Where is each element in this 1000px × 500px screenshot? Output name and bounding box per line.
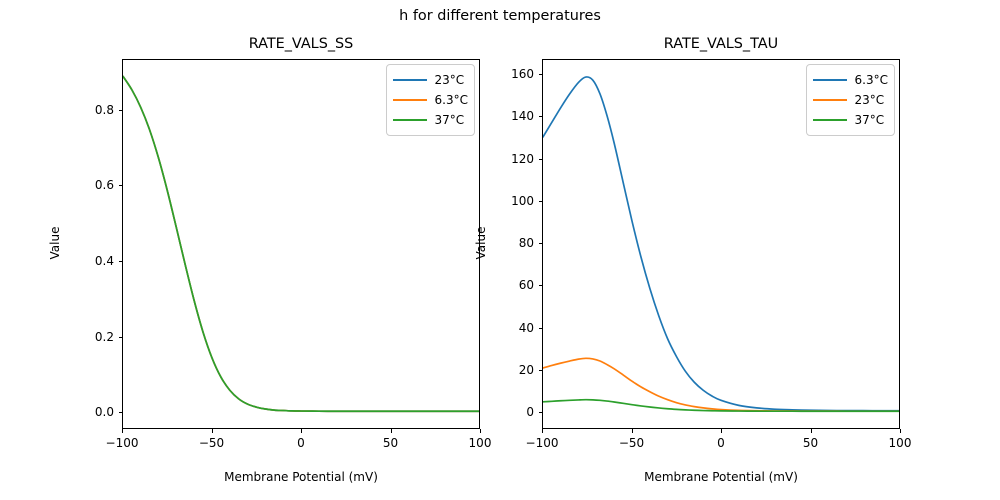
legend-line-icon [813, 79, 847, 81]
ytick-label: 0.4 [10, 254, 114, 268]
ytick-mark [539, 159, 543, 160]
legend-label: 37°C [855, 113, 888, 127]
xtick-label: −100 [526, 436, 559, 450]
ylabel-left: Value [48, 183, 62, 303]
ytick-mark [539, 328, 543, 329]
ytick-label: 40 [430, 321, 534, 335]
axes-right-title: RATE_VALS_TAU [543, 36, 899, 52]
legend-line-icon [813, 119, 847, 121]
axes-left-title: RATE_VALS_SS [123, 36, 479, 52]
ytick-mark [539, 116, 543, 117]
legend-line-icon [393, 99, 427, 101]
xtick-mark [632, 429, 633, 433]
legend-line-icon [393, 119, 427, 121]
xtick-mark [301, 429, 302, 433]
ytick-label: 140 [430, 109, 534, 123]
ytick-mark [539, 201, 543, 202]
ytick-mark [119, 412, 123, 413]
xtick-mark [721, 429, 722, 433]
ytick-mark [539, 243, 543, 244]
legend-right: 6.3°C23°C37°C [806, 64, 895, 136]
ytick-mark [539, 370, 543, 371]
ytick-mark [539, 285, 543, 286]
ytick-mark [119, 337, 123, 338]
ytick-label: 120 [430, 152, 534, 166]
xtick-label: 50 [383, 436, 398, 450]
xlabel-right: Membrane Potential (mV) [542, 470, 900, 484]
ytick-label: 20 [430, 363, 534, 377]
legend-item[interactable]: 6.3°C [393, 90, 468, 110]
xtick-label: −50 [619, 436, 644, 450]
xtick-mark [900, 429, 901, 433]
xtick-mark [480, 429, 481, 433]
ytick-label: 0.6 [10, 178, 114, 192]
legend-item[interactable]: 37°C [813, 110, 888, 130]
ytick-mark [539, 74, 543, 75]
xtick-mark [391, 429, 392, 433]
ytick-label: 0 [430, 405, 534, 419]
legend-label: 6.3°C [435, 93, 468, 107]
xtick-mark [212, 429, 213, 433]
figure-suptitle: h for different temperatures [0, 6, 1000, 26]
axes-rate-vals-ss: RATE_VALS_SS 23°C6.3°C37°C [122, 59, 480, 429]
matplotlib-figure: h for different temperatures RATE_VALS_S… [0, 0, 1000, 500]
legend-label: 6.3°C [855, 73, 888, 87]
ytick-label: 0.8 [10, 103, 114, 117]
ytick-mark [539, 412, 543, 413]
ytick-mark [119, 110, 123, 111]
ytick-label: 0.2 [10, 330, 114, 344]
ytick-label: 0.0 [10, 405, 114, 419]
xtick-label: 100 [889, 436, 912, 450]
xtick-label: −100 [106, 436, 139, 450]
xtick-mark [542, 429, 543, 433]
xtick-label: 100 [469, 436, 492, 450]
ytick-mark [119, 261, 123, 262]
legend-label: 23°C [855, 93, 888, 107]
legend-line-icon [393, 79, 427, 81]
legend-line-icon [813, 99, 847, 101]
xtick-label: −50 [199, 436, 224, 450]
xtick-mark [811, 429, 812, 433]
xtick-label: 0 [717, 436, 725, 450]
ytick-label: 160 [430, 67, 534, 81]
series-line [543, 358, 899, 411]
axes-rate-vals-tau: RATE_VALS_TAU 6.3°C23°C37°C [542, 59, 900, 429]
ytick-mark [119, 185, 123, 186]
xtick-mark [122, 429, 123, 433]
xtick-label: 50 [803, 436, 818, 450]
legend-item[interactable]: 23°C [813, 90, 888, 110]
xtick-label: 0 [297, 436, 305, 450]
ylabel-right: Value [474, 183, 488, 303]
legend-item[interactable]: 6.3°C [813, 70, 888, 90]
xlabel-left: Membrane Potential (mV) [122, 470, 480, 484]
